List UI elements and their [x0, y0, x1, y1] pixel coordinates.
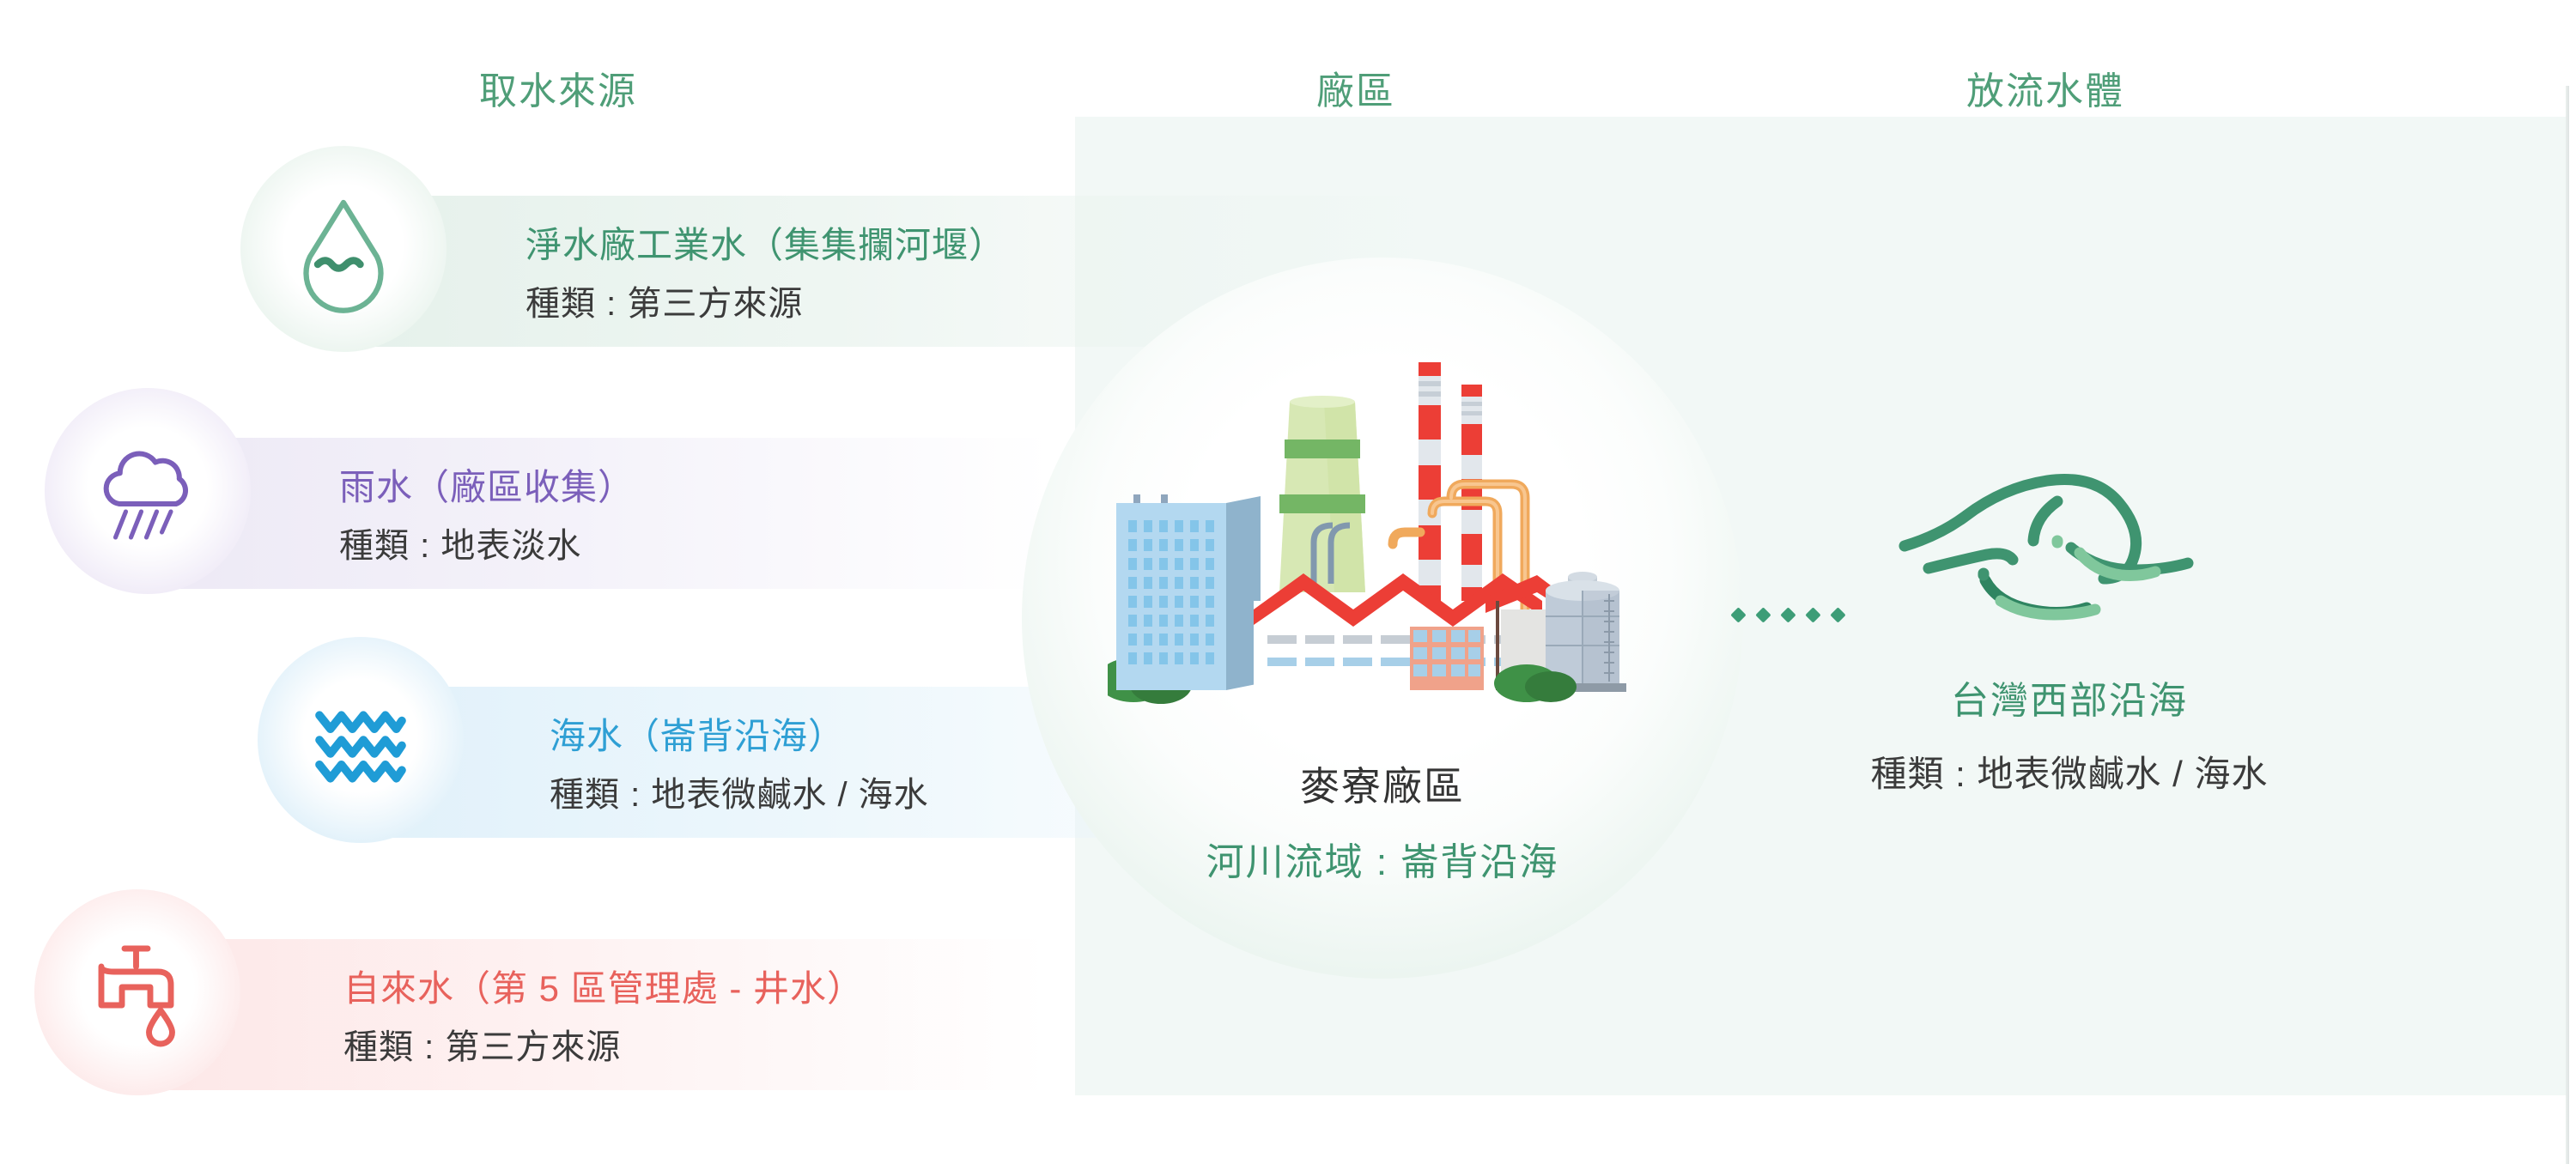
plant-caption: 麥寮廠區 河川流域 : 崙背沿海: [1022, 755, 1743, 886]
sea-waves-icon: [292, 671, 429, 809]
source-subtitle-water-plant: 種類 : 第三方來源: [526, 281, 1005, 327]
faucet-icon: [73, 928, 202, 1057]
source-badge-seawater: [258, 637, 464, 843]
flow-dot: [1780, 607, 1795, 622]
column-header-outfall: 放流水體: [1966, 60, 2124, 115]
panel-right-edge: [2566, 86, 2569, 1164]
column-header-source: 取水來源: [479, 60, 637, 115]
source-text-tapwater: 自來水（第 5 區管理處 - 井水） 種類 : 第三方來源: [343, 965, 864, 1070]
source-title-seawater: 海水（崙背沿海）: [550, 712, 929, 761]
column-header-plant: 廠區: [1316, 60, 1395, 115]
dotted-flow-icon: [1733, 609, 1844, 621]
ocean-wave-icon: [1880, 464, 2258, 627]
outfall-name: 台灣西部沿海: [1700, 670, 2439, 724]
source-badge-tapwater: [34, 889, 240, 1095]
rain-cloud-icon: [83, 427, 212, 555]
source-badge-rainwater: [45, 388, 251, 594]
water-drop-icon: [279, 185, 408, 313]
source-badge-water-plant: [240, 146, 447, 352]
flow-dot: [1830, 607, 1845, 622]
source-title-tapwater: 自來水（第 5 區管理處 - 井水）: [343, 965, 864, 1014]
water-flow-diagram: 取水來源 廠區 放流水體 淨水廠工業水（集集攔河堰） 種類 : 第三方來源: [0, 0, 2576, 1164]
source-title-water-plant: 淨水廠工業水（集集攔河堰）: [526, 221, 1005, 270]
source-subtitle-rainwater: 種類 : 地表淡水: [339, 523, 635, 569]
flow-dot: [1805, 607, 1820, 622]
factory-illustration: [1108, 343, 1674, 704]
plant-name: 麥寮廠區: [1022, 755, 1743, 812]
source-title-rainwater: 雨水（廠區收集）: [339, 464, 635, 512]
source-text-rainwater: 雨水（廠區收集） 種類 : 地表淡水: [339, 464, 635, 569]
source-text-seawater: 海水（崙背沿海） 種類 : 地表微鹹水 / 海水: [550, 712, 929, 818]
flow-dot: [1730, 607, 1746, 622]
plant-basin: 河川流域 : 崙背沿海: [1022, 831, 1743, 886]
outfall-caption: 台灣西部沿海 種類 : 地表微鹹水 / 海水: [1700, 670, 2439, 797]
source-subtitle-tapwater: 種類 : 第三方來源: [343, 1024, 864, 1070]
source-subtitle-seawater: 種類 : 地表微鹹水 / 海水: [550, 772, 929, 818]
flow-dot: [1755, 607, 1771, 622]
source-text-water-plant: 淨水廠工業水（集集攔河堰） 種類 : 第三方來源: [526, 221, 1005, 327]
outfall-type: 種類 : 地表微鹹水 / 海水: [1700, 745, 2439, 797]
